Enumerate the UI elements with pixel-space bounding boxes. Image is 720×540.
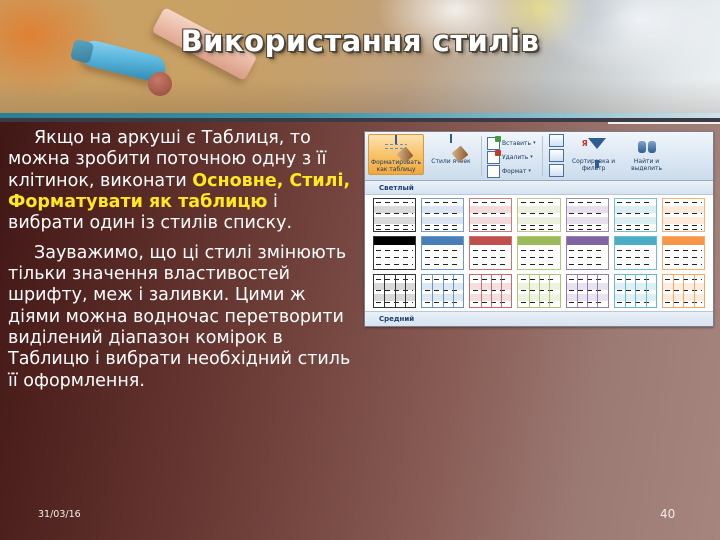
- find-select-label: Найти и выделить: [622, 159, 672, 173]
- table-style-swatch[interactable]: [566, 236, 609, 270]
- cell-styles-button[interactable]: Стили ячеек: [424, 134, 478, 166]
- paragraph-2: Зауважимо, що ці стилі змінюють тільки з…: [8, 243, 358, 392]
- slide: Використання стилів Якщо на аркуші є Таб…: [0, 0, 720, 540]
- sort-filter-button[interactable]: Я Сортировка и фильтр: [566, 134, 622, 173]
- table-style-swatch[interactable]: [469, 236, 512, 270]
- excel-ribbon: Форматировать как таблицу Стили ячеек Вс…: [365, 132, 713, 181]
- body-text: Якщо на аркуші є Таблиця, то можна зроби…: [8, 128, 358, 400]
- table-style-swatch[interactable]: [421, 198, 464, 232]
- table-style-swatch[interactable]: [373, 236, 416, 270]
- divider-white-rule: [608, 122, 720, 124]
- table-style-swatch[interactable]: [517, 236, 560, 270]
- table-style-swatch[interactable]: [662, 198, 705, 232]
- excel-screenshot-image: Форматировать как таблицу Стили ячеек Вс…: [364, 131, 714, 327]
- insert-cells-button[interactable]: Вставить ▾: [487, 136, 536, 150]
- insert-cells-label: Вставить: [502, 140, 531, 147]
- ribbon-group-styles: Форматировать как таблицу Стили ячеек: [365, 132, 481, 180]
- table-style-swatch[interactable]: [469, 198, 512, 232]
- editing-mini-icons: [547, 134, 566, 177]
- table-style-swatch[interactable]: [421, 274, 464, 308]
- table-styles-gallery: Светлый Средний: [365, 181, 713, 326]
- table-style-swatch[interactable]: [662, 274, 705, 308]
- table-style-swatch[interactable]: [614, 236, 657, 270]
- table-style-swatch[interactable]: [614, 274, 657, 308]
- chevron-down-icon: ▾: [528, 168, 531, 174]
- gallery-swatch-grid: [371, 195, 707, 311]
- find-select-button[interactable]: Найти и выделить: [622, 134, 672, 173]
- page-title: Використання стилів: [0, 24, 720, 58]
- table-style-swatch[interactable]: [566, 274, 609, 308]
- ribbon-group-editing: Я Сортировка и фильтр Найти и выделить: [542, 132, 675, 180]
- delete-cells-label: Удалить: [502, 154, 528, 161]
- fill-icon[interactable]: [549, 149, 564, 162]
- cell-styles-icon: [438, 136, 464, 158]
- chevron-down-icon: ▾: [533, 140, 536, 146]
- format-cells-button[interactable]: Формат ▾: [487, 164, 531, 178]
- sort-filter-label: Сортировка и фильтр: [566, 159, 622, 173]
- delete-cells-icon: [487, 151, 500, 164]
- gallery-section-light-header: Светлый: [365, 181, 713, 195]
- table-style-swatch[interactable]: [517, 198, 560, 232]
- find-select-icon: [635, 136, 659, 158]
- table-style-swatch[interactable]: [662, 236, 705, 270]
- format-cells-label: Формат: [502, 168, 526, 175]
- autosum-icon[interactable]: [549, 134, 564, 147]
- chevron-down-icon: ▾: [530, 154, 533, 160]
- table-style-swatch[interactable]: [373, 198, 416, 232]
- paragraph-1: Якщо на аркуші є Таблиця, то можна зроби…: [8, 128, 358, 235]
- format-as-table-button[interactable]: Форматировать как таблицу: [368, 134, 424, 175]
- gallery-section-medium-header: Средний: [365, 311, 713, 326]
- footer-page-number: 40: [660, 507, 675, 521]
- table-style-swatch[interactable]: [469, 274, 512, 308]
- insert-cells-icon: [487, 137, 500, 150]
- table-style-swatch[interactable]: [373, 274, 416, 308]
- format-as-table-label: Форматировать как таблицу: [369, 160, 423, 174]
- cell-styles-label: Стили ячеек: [431, 159, 470, 166]
- clear-icon[interactable]: [549, 164, 564, 177]
- sort-filter-icon: Я: [582, 136, 606, 158]
- table-style-swatch[interactable]: [517, 274, 560, 308]
- table-style-swatch[interactable]: [614, 198, 657, 232]
- table-format-icon: [383, 137, 409, 159]
- format-cells-icon: [487, 165, 500, 178]
- table-style-swatch[interactable]: [566, 198, 609, 232]
- table-style-swatch[interactable]: [421, 236, 464, 270]
- delete-cells-button[interactable]: Удалить ▾: [487, 150, 533, 164]
- footer-date: 31/03/16: [38, 509, 81, 520]
- ribbon-group-cells: Вставить ▾ Удалить ▾ Формат ▾: [481, 132, 542, 180]
